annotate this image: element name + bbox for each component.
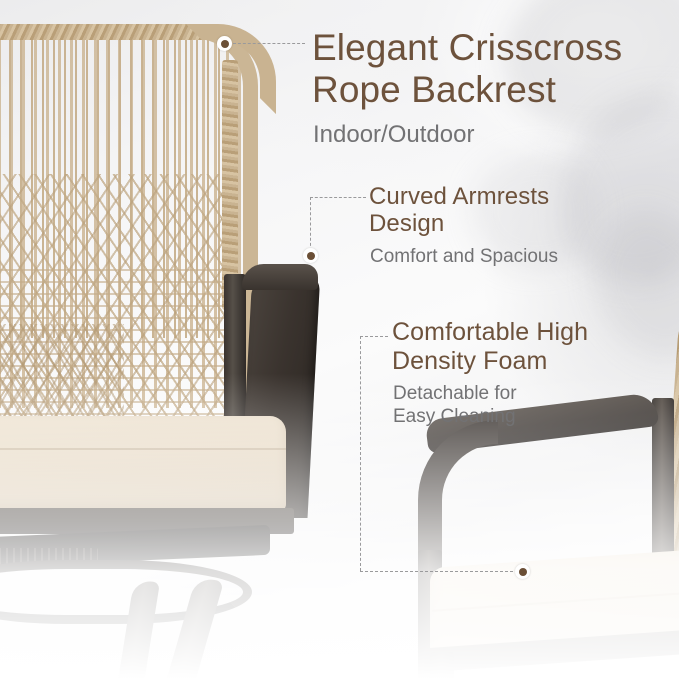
- callout-2-title: Curved Armrests Design: [369, 183, 549, 238]
- callout-1-marker-dot: [217, 36, 232, 51]
- callout-2-connector-horizontal: [310, 197, 366, 198]
- callout-3-connector-bottom: [360, 571, 518, 572]
- callout-1-title: Elegant Crisscross Rope Backrest: [312, 27, 622, 111]
- callout-3-connector-vertical: [360, 336, 361, 571]
- callout-3-subtitle: Detachable for Easy Cleaning: [393, 383, 517, 429]
- callout-2-subtitle: Comfort and Spacious: [370, 246, 558, 269]
- callout-3-marker-dot: [515, 564, 530, 579]
- callout-1-connector-line: [233, 43, 305, 44]
- callout-2-marker-dot: [303, 248, 318, 263]
- callout-3-title: Comfortable High Density Foam: [392, 318, 588, 375]
- product-feature-image: Elegant Crisscross Rope Backrest Indoor/…: [0, 0, 679, 679]
- callout-2-connector-vertical: [310, 197, 311, 251]
- callout-1-subtitle: Indoor/Outdoor: [313, 121, 474, 150]
- callout-3-connector-top: [360, 336, 388, 337]
